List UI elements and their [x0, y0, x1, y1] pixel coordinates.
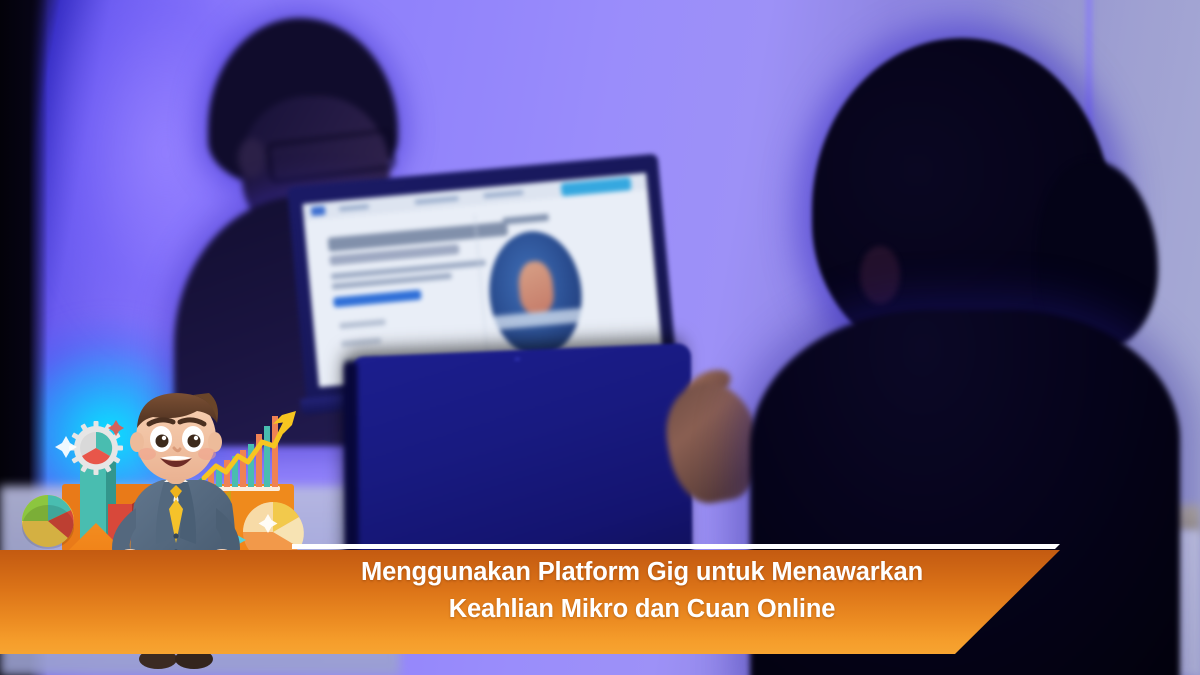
banner-top-rule [292, 544, 1060, 549]
banner-title-line-2: Keahlian Mikro dan Cuan Online [292, 591, 992, 628]
hero-banner-image: Menggunakan Platform Gig untuk Menawarka… [0, 0, 1200, 675]
mascot-pie-small-upper [22, 495, 74, 549]
thumbnail-person [517, 260, 556, 315]
screen-list-item [339, 319, 385, 329]
screen-logo [311, 206, 326, 216]
screen-photo-thumbnail [484, 227, 587, 360]
banner-title: Menggunakan Platform Gig untuk Menawarka… [292, 554, 992, 628]
banner-title-line-1: Menggunakan Platform Gig untuk Menawarka… [292, 554, 992, 591]
screen-list-item [341, 337, 381, 347]
person-ear [860, 246, 900, 304]
man-ear [238, 138, 266, 178]
screen-caption [503, 214, 549, 225]
thumbnail-highlight [491, 308, 584, 330]
title-banner: Menggunakan Platform Gig untuk Menawarka… [0, 544, 1060, 654]
laptop-camera [514, 357, 520, 361]
screen-link [333, 290, 422, 308]
